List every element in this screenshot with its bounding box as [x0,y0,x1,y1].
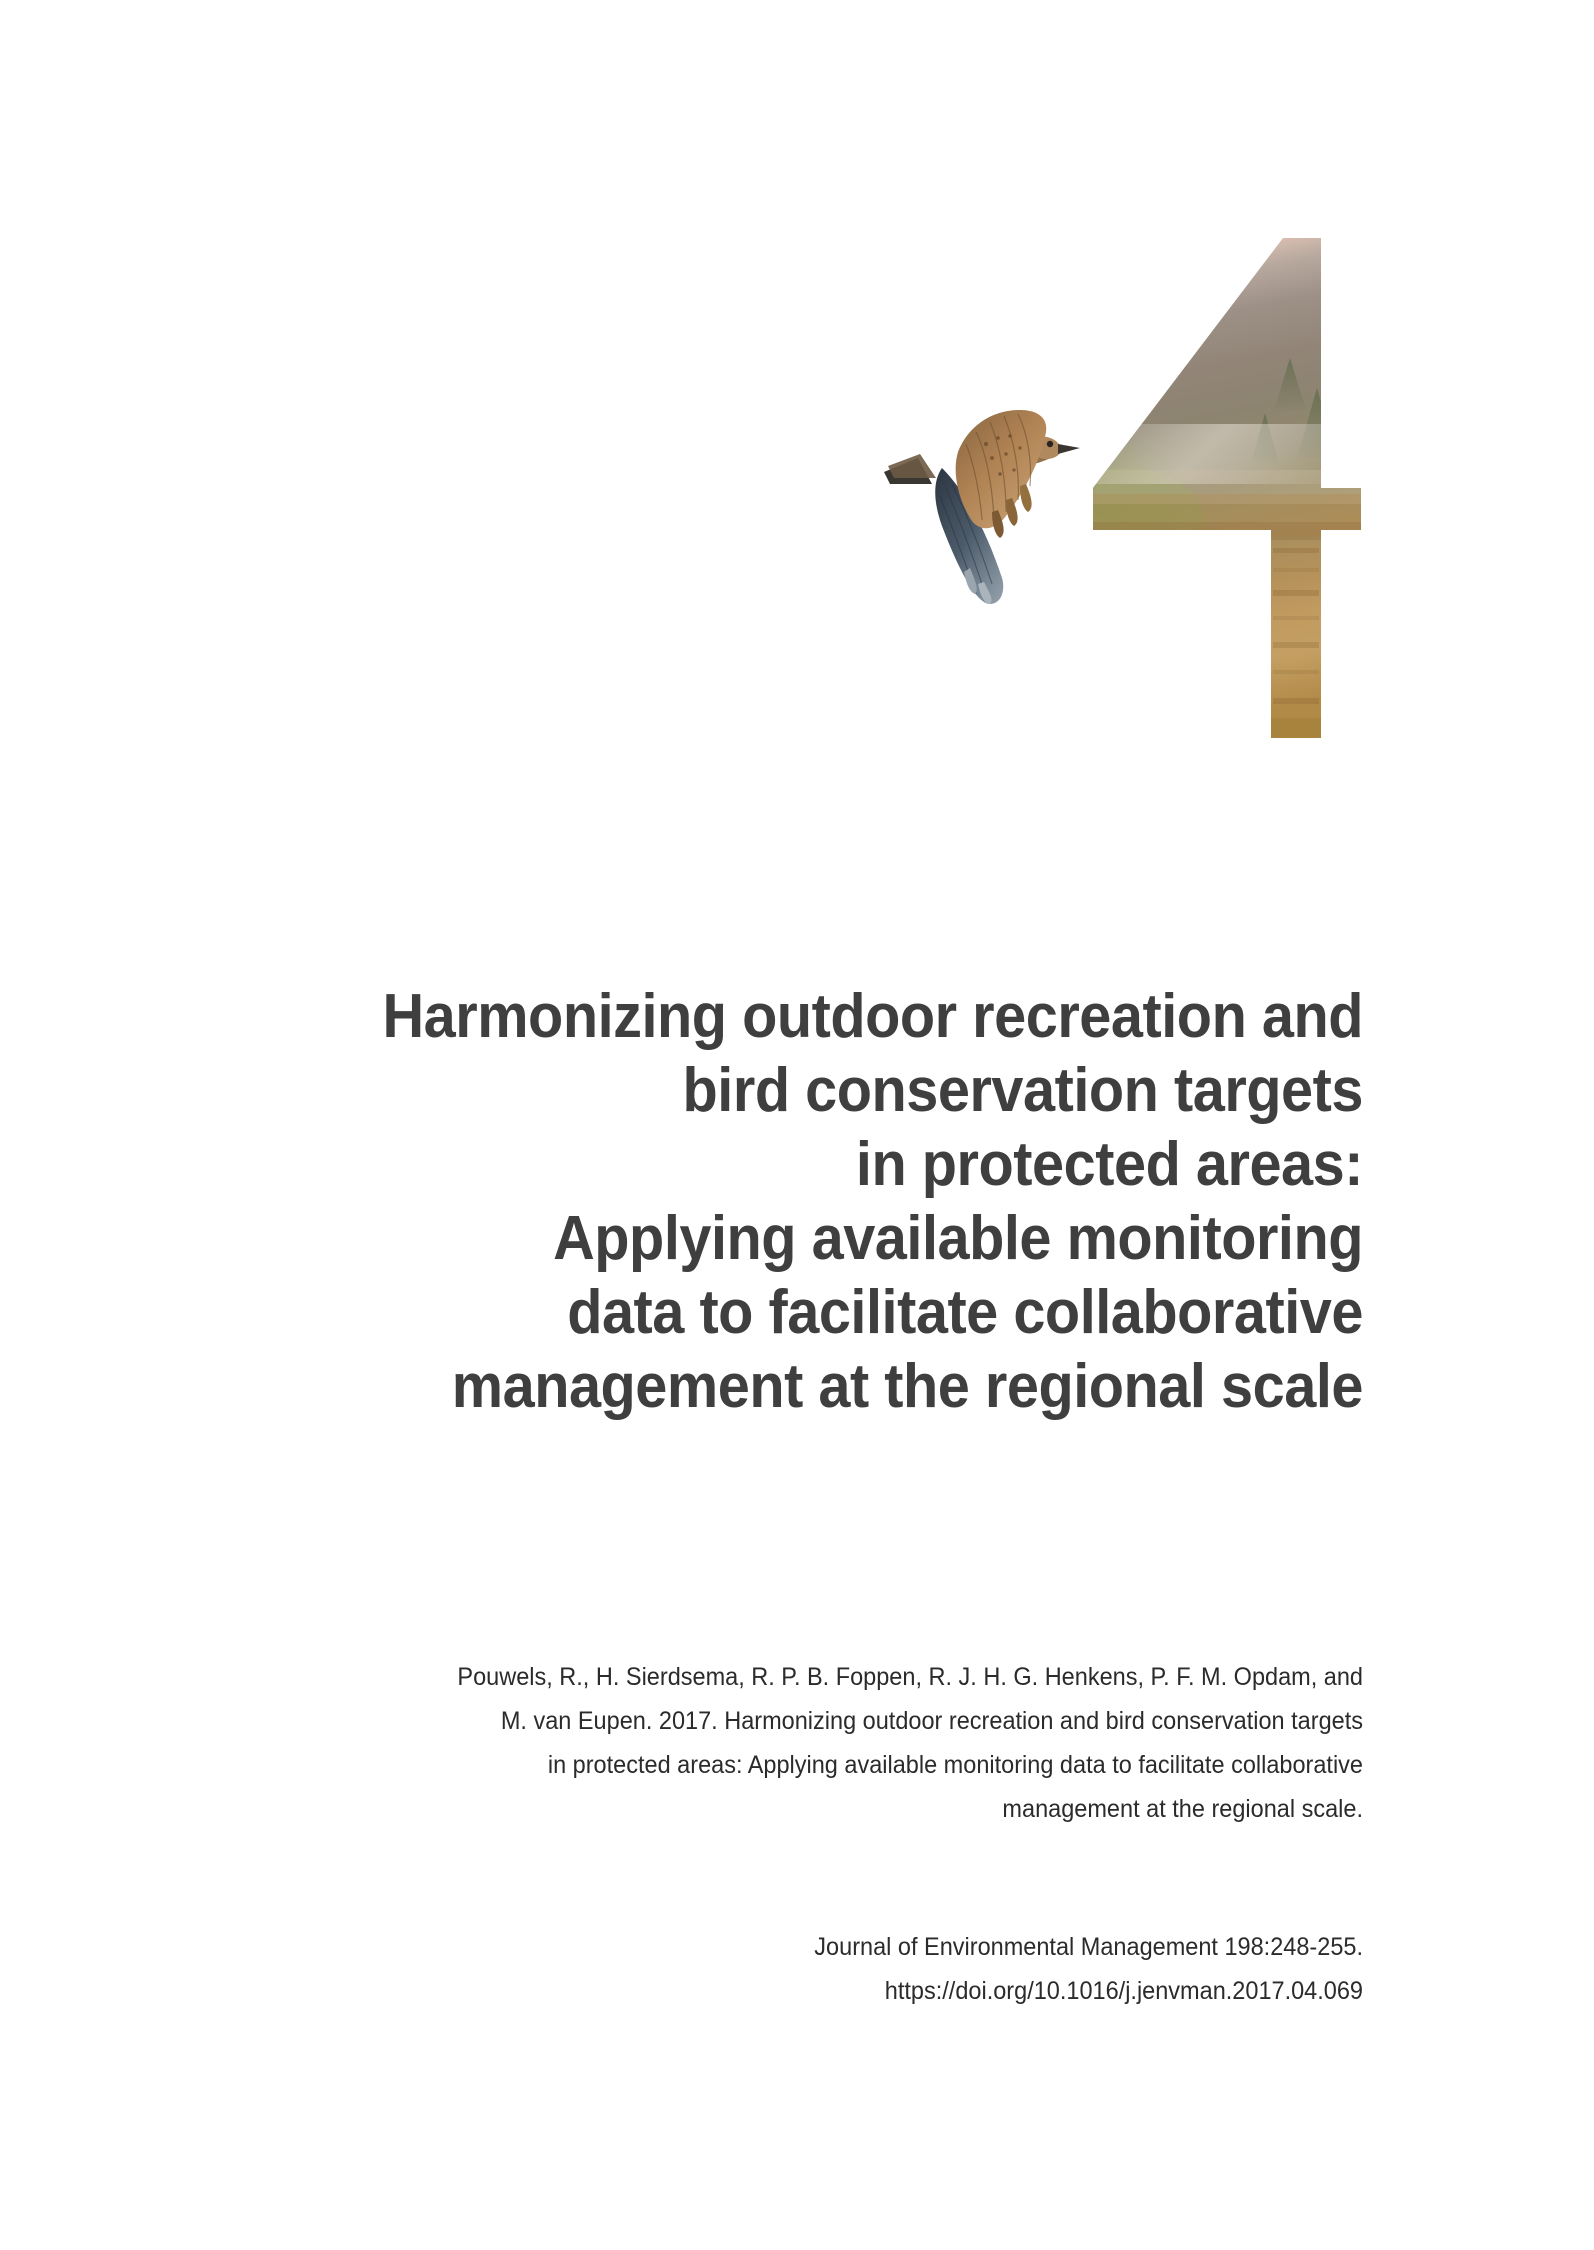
citation: Pouwels, R., H. Sierdsema, R. P. B. Fopp… [240,1655,1363,1831]
citation-line: Pouwels, R., H. Sierdsema, R. P. B. Fopp… [307,1655,1363,1699]
chapter-number-graphic [1085,238,1395,738]
chapter-number-4-icon [1085,238,1395,738]
title-line: in protected areas: [281,1128,1363,1202]
title-line: data to facilitate collaborative [281,1276,1363,1350]
title-line: bird conservation targets [281,1054,1363,1128]
chapter-hero-graphic [0,0,1594,830]
chapter-title-page: Harmonizing outdoor recreation and bird … [0,0,1594,2250]
page-title: Harmonizing outdoor recreation and bird … [200,980,1363,1424]
doi-link[interactable]: https://doi.org/10.1016/j.jenvman.2017.0… [307,1969,1363,2013]
citation-line: M. van Eupen. 2017. Harmonizing outdoor … [307,1699,1363,1743]
journal-reference: Journal of Environmental Management 198:… [240,1925,1363,2013]
title-line: Applying available monitoring [281,1202,1363,1276]
journal-name-line: Journal of Environmental Management 198:… [307,1925,1363,1969]
citation-line: in protected areas: Applying available m… [307,1743,1363,1787]
title-line: management at the regional scale [281,1350,1363,1424]
skylark-bird-icon [880,392,1110,627]
title-line: Harmonizing outdoor recreation and [281,980,1363,1054]
bird-illustration [880,392,1110,627]
citation-line: management at the regional scale. [307,1787,1363,1831]
